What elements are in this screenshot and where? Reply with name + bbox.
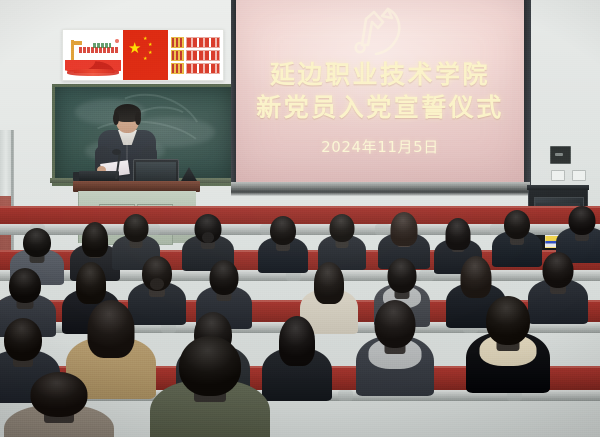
hammer-and-sickle-icon xyxy=(348,3,412,61)
attendee-head xyxy=(82,222,108,257)
attendee xyxy=(262,316,332,402)
rail-bracket xyxy=(338,390,353,401)
slogan-tag xyxy=(171,37,184,48)
flag-star-small: ★ xyxy=(148,51,152,56)
attendee-head xyxy=(486,296,530,345)
banner-wave-graphic-2 xyxy=(67,69,119,76)
flag-star-small: ★ xyxy=(143,57,147,62)
attendee-hair-bun xyxy=(150,278,164,290)
attendee-head xyxy=(504,210,530,239)
slogan-row xyxy=(171,64,220,73)
attendee-head xyxy=(314,262,344,304)
microphone-icon xyxy=(112,149,121,155)
attendee-head xyxy=(391,212,418,246)
flag-star-large: ★ xyxy=(128,41,141,56)
attendee-head xyxy=(446,218,471,250)
attendee xyxy=(466,296,550,394)
wall-display-board: ★ ★ ★ ★ ★ xyxy=(62,29,224,81)
slide-date: 2024年11月5日 xyxy=(236,136,524,157)
projected-slide: 延边职业技术学院 新党员入党宣誓仪式 2024年11月5日 xyxy=(236,0,524,184)
china-flag: ★ ★ ★ ★ ★ xyxy=(123,30,168,80)
slogan-bar xyxy=(186,37,220,48)
slide-content: 延边职业技术学院 新党员入党宣誓仪式 2024年11月5日 xyxy=(236,0,524,184)
slogan-row xyxy=(171,51,220,60)
wall-outlet[interactable] xyxy=(572,170,586,181)
rack-top-panel xyxy=(527,185,589,190)
attendee-head xyxy=(543,252,574,288)
attendee-head xyxy=(461,256,492,298)
banner-dot-icon xyxy=(115,39,119,43)
attendee-head xyxy=(124,214,149,242)
slogan-tag xyxy=(171,50,184,61)
presenter-hair-side xyxy=(113,112,119,125)
attendee-head xyxy=(179,336,241,396)
slogan-bar xyxy=(186,50,220,61)
presenter-hair-side xyxy=(135,112,141,125)
attendee-head xyxy=(31,372,88,417)
flag-pole-icon xyxy=(71,40,74,60)
attendee-head xyxy=(23,228,51,257)
attendee xyxy=(356,300,434,396)
attendee-head xyxy=(330,214,355,242)
projection-screen: 延边职业技术学院 新党员入党宣誓仪式 2024年11月5日 xyxy=(231,0,530,196)
slogan-tag xyxy=(171,63,184,74)
wall-outlet[interactable] xyxy=(551,170,565,181)
attendee-hair-bun xyxy=(202,232,214,243)
monitor-screen xyxy=(136,162,176,182)
wall-speaker-box xyxy=(550,146,571,164)
screen-casing-lip xyxy=(231,192,530,196)
slogan-board xyxy=(168,30,223,80)
attendee-head xyxy=(375,300,416,348)
attendee-head xyxy=(388,258,417,293)
slogan-bar xyxy=(186,63,220,74)
ribbon-banner-panel xyxy=(63,30,123,80)
attendee-head xyxy=(88,300,135,358)
attendee xyxy=(4,372,114,437)
attendee-head xyxy=(210,260,239,295)
attendee-head xyxy=(9,268,41,303)
slogan-row xyxy=(171,38,220,47)
attendee xyxy=(150,336,270,437)
slide-title-line1: 延边职业技术学院 xyxy=(270,60,490,89)
screen-frame-right xyxy=(524,0,531,192)
slide-title: 延边职业技术学院 新党员入党宣誓仪式 xyxy=(236,58,524,124)
attendee-head xyxy=(569,206,596,235)
flag-star-small: ★ xyxy=(143,37,147,42)
attendee-head xyxy=(76,262,106,304)
slide-title-line2: 新党员入党宣誓仪式 xyxy=(236,91,524,124)
photo-scene: ★ ★ ★ ★ ★ xyxy=(0,0,600,437)
attendee-head xyxy=(4,318,42,361)
banner-accent-text xyxy=(93,43,111,48)
attendee-head xyxy=(279,316,315,366)
flag-star-small: ★ xyxy=(148,43,152,48)
attendee-head xyxy=(270,216,296,245)
